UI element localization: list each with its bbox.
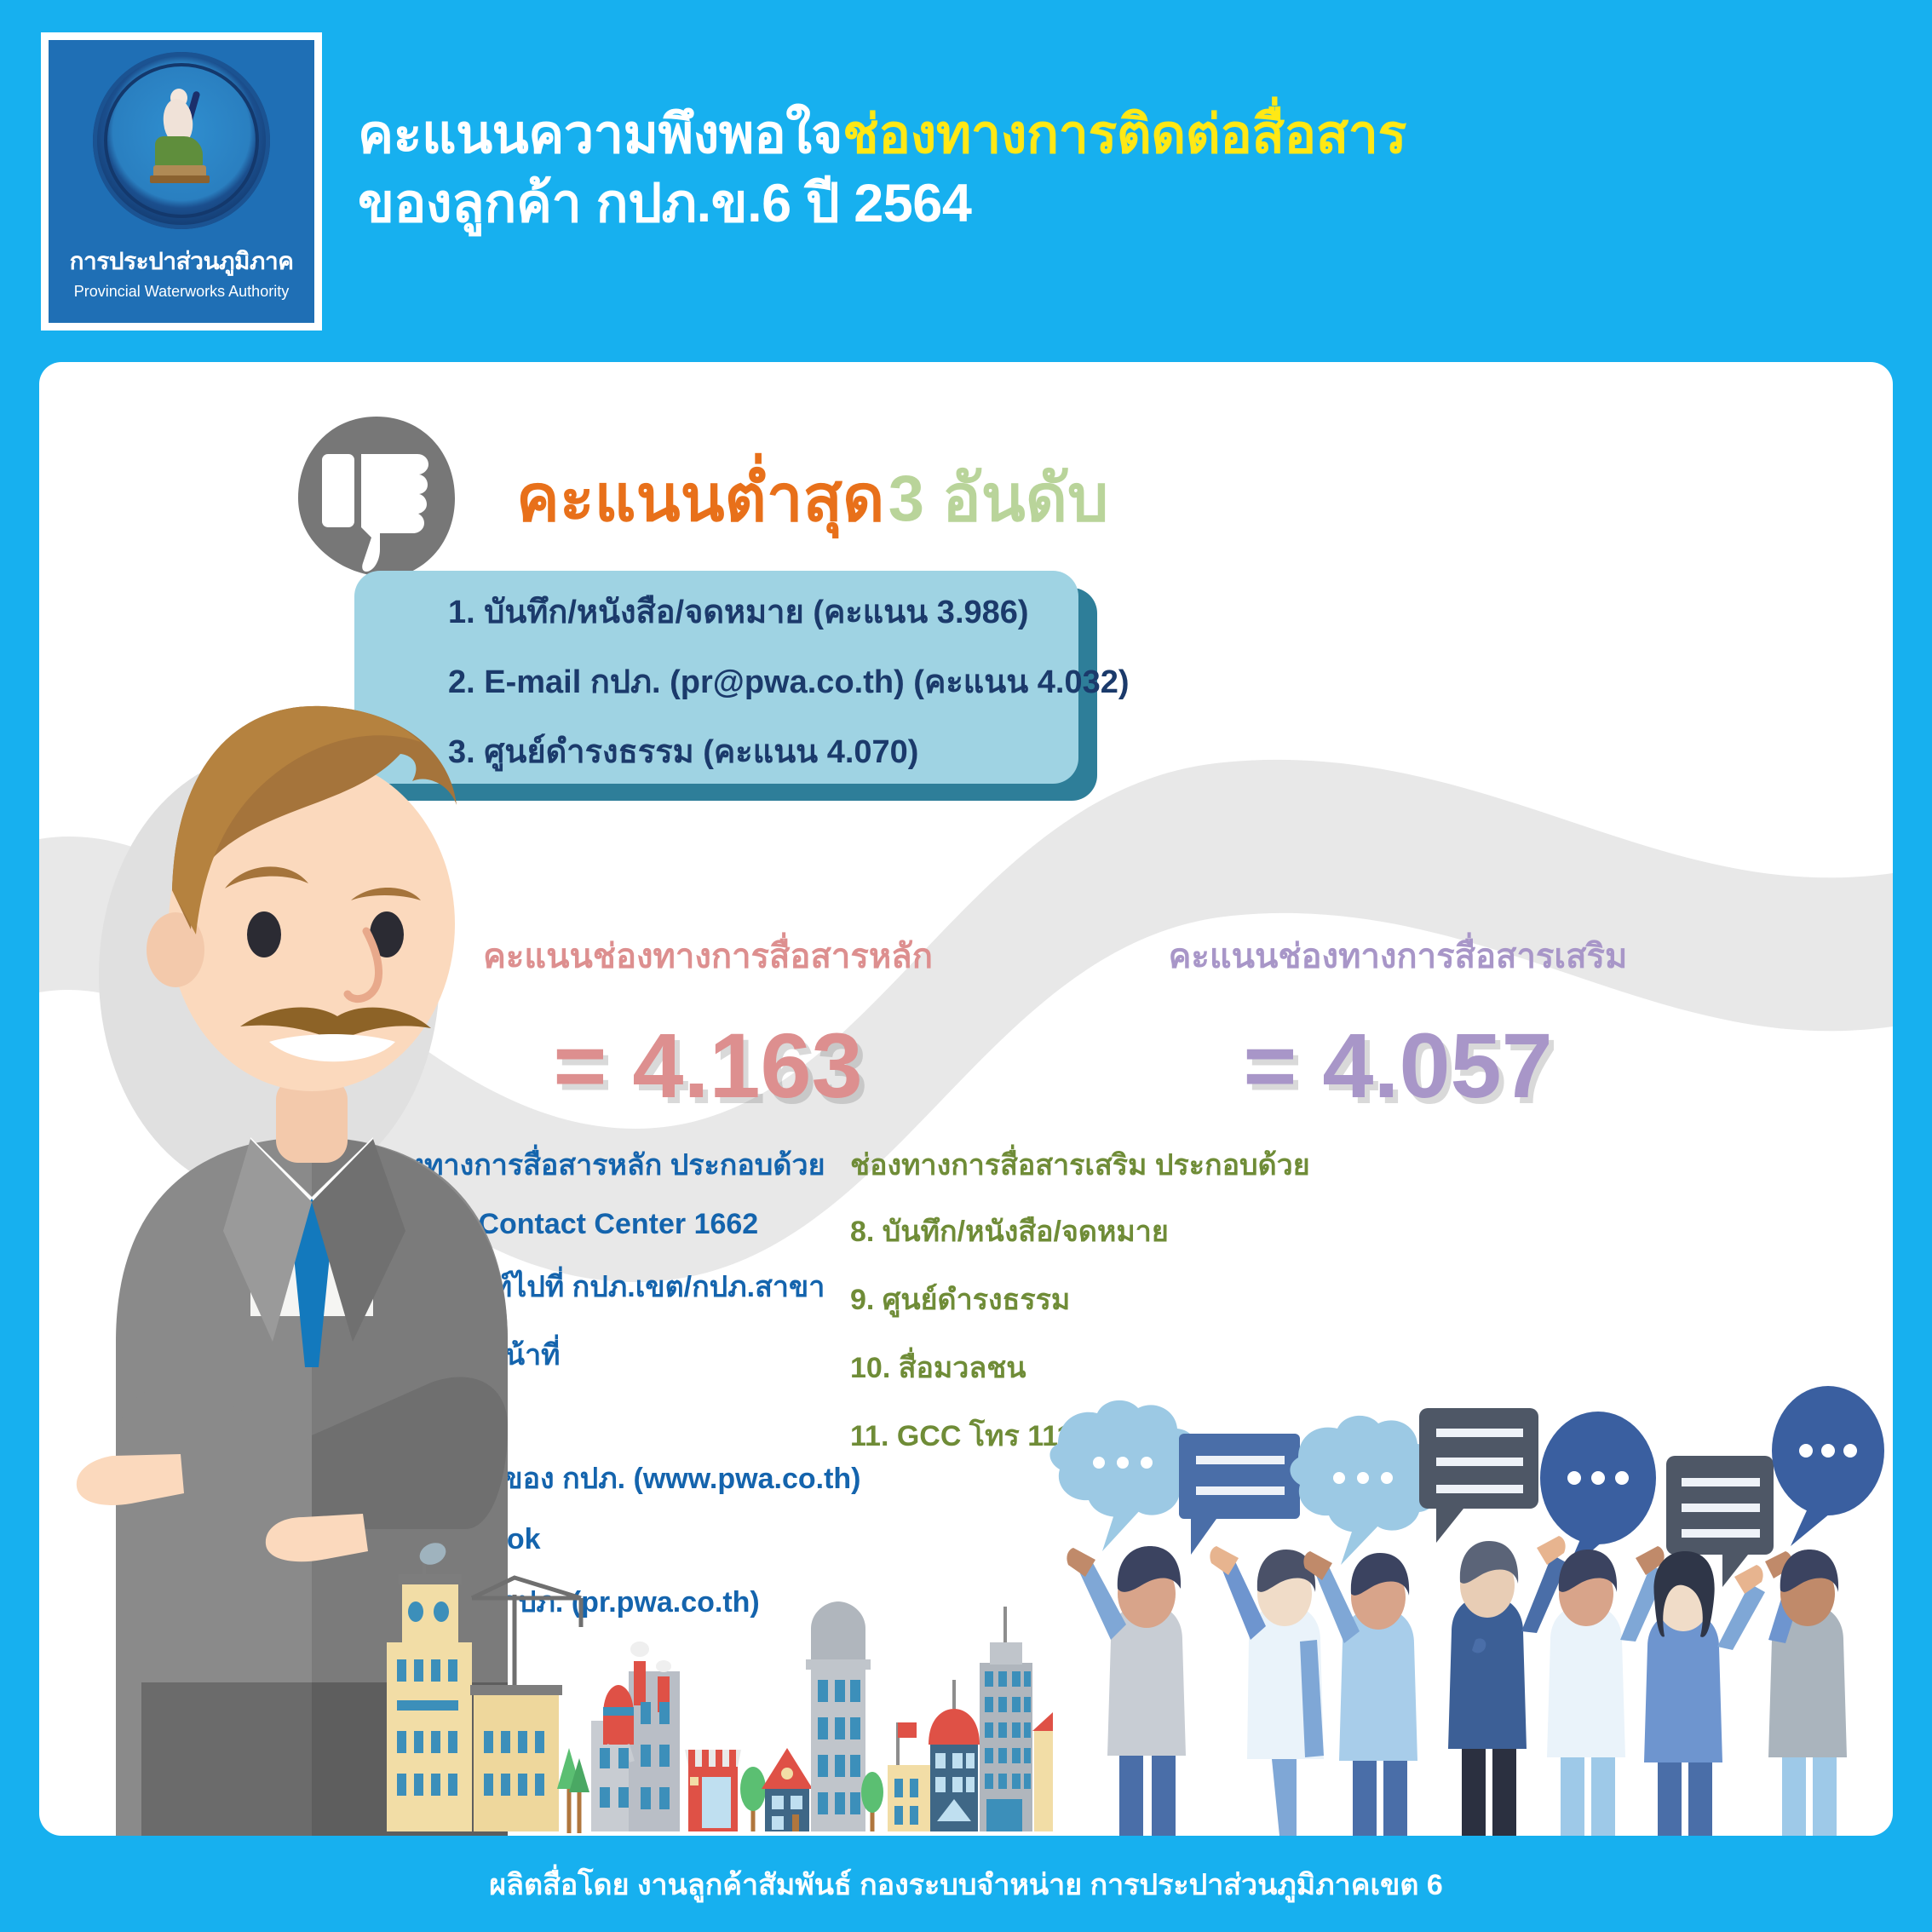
page-footer: ผลิตสื่อโดย งานลูกค้าสัมพันธ์ กองระบบจำห…: [0, 1836, 1932, 1932]
content-card: คะแนนต่ำสุด 3 อันดับ 1. บันทึก/หนังสือ/จ…: [39, 362, 1893, 1836]
logo-thai-label: การประปาส่วนภูมิภาค: [70, 243, 294, 280]
title-part-highlight: ช่องทางการติดต่อสื่อสาร: [842, 105, 1406, 164]
title-line-1: คะแนนความพึงพอใจช่องทางการติดต่อสื่อสาร: [358, 101, 1857, 170]
secondary-score-label: คะแนนช่องทางการสื่อสารเสริม: [1053, 929, 1743, 983]
list-item: 9. ศูนย์ดำรงธรรม: [850, 1276, 1481, 1322]
lowest-score-heading: คะแนนต่ำสุด 3 อันดับ: [516, 447, 1108, 549]
footer-credit-text: ผลิตสื่อโดย งานลูกค้าสัมพันธ์ กองระบบจำห…: [489, 1861, 1443, 1907]
pwa-logo: การประปาส่วนภูมิภาค Provincial Waterwork…: [41, 32, 322, 331]
lowest-heading-green: 3 อันดับ: [888, 463, 1109, 535]
page-header: การประปาส่วนภูมิภาค Provincial Waterwork…: [0, 0, 1932, 362]
title-line-2: ของลูกค้า กปภ.ข.6 ปี 2564: [358, 170, 1857, 239]
lowest-heading-orange: คะแนนต่ำสุด: [516, 463, 884, 535]
logo-english-label: Provincial Waterworks Authority: [74, 283, 289, 301]
list-item: 10. สื่อมวลชน: [850, 1344, 1481, 1390]
secondary-score-block: คะแนนช่องทางการสื่อสารเสริม = 4.057: [1053, 929, 1743, 1118]
crowd-speech-bubbles-illustration: [1036, 1384, 1893, 1836]
list-item: 8. บันทึก/หนังสือ/จดหมาย: [850, 1208, 1481, 1254]
secondary-channel-list-title: ช่องทางการสื่อสารเสริม ประกอบด้วย: [850, 1141, 1481, 1187]
page-title: คะแนนความพึงพอใจช่องทางการติดต่อสื่อสาร …: [358, 101, 1857, 238]
title-part-white: คะแนนความพึงพอใจ: [358, 105, 842, 164]
city-skyline-illustration: [380, 1533, 1053, 1836]
pwa-seal-icon: [93, 52, 270, 229]
secondary-score-value: = 4.057: [1053, 1012, 1743, 1118]
